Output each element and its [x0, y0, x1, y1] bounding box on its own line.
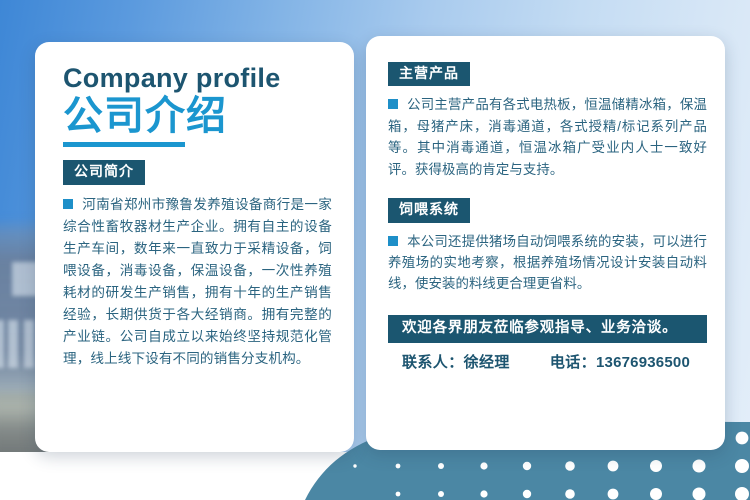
section-badge-main-products: 主营产品: [388, 62, 470, 86]
company-intro-paragraph: 河南省郑州市豫鲁发养殖设备商行是一家综合性畜牧器材生产企业。拥有自主的设备生产车…: [63, 194, 332, 370]
building-window: [8, 320, 18, 368]
main-products-text: 公司主营产品有各式电热板，恒温储精冰箱，保温箱，母猪产床，消毒通道，各式授精/标…: [388, 97, 707, 176]
title-underline: [63, 142, 185, 147]
page-title-chinese: 公司介绍: [63, 94, 332, 139]
contact-person-name: 徐经理: [464, 354, 510, 371]
products-services-content: 主营产品 公司主营产品有各式电热板，恒温储精冰箱，保温箱，母猪产床，消毒通道，各…: [388, 62, 707, 372]
main-products-block: 主营产品 公司主营产品有各式电热板，恒温储精冰箱，保温箱，母猪产床，消毒通道，各…: [388, 62, 707, 180]
feeding-system-text: 本公司还提供猪场自动饲喂系统的安装，可以进行养殖场的实地考察，根据养殖场情况设计…: [388, 234, 707, 292]
contact-row: 联系人：徐经理电话：13676936500: [388, 351, 707, 372]
feeding-system-block: 饲喂系统 本公司还提供猪场自动饲喂系统的安装，可以进行养殖场的实地考察，根据养殖…: [388, 198, 707, 295]
square-bullet-icon: [388, 236, 398, 246]
company-profile-content: Company profile 公司介绍 公司简介 河南省郑州市豫鲁发养殖设备商…: [63, 64, 332, 370]
section-badge-feeding-system: 饲喂系统: [388, 198, 470, 222]
page-title-english: Company profile: [63, 64, 332, 93]
products-services-card: 主营产品 公司主营产品有各式电热板，恒温储精冰箱，保温箱，母猪产床，消毒通道，各…: [366, 36, 725, 450]
main-products-paragraph: 公司主营产品有各式电热板，恒温储精冰箱，保温箱，母猪产床，消毒通道，各式授精/标…: [388, 94, 707, 180]
section-badge-company-intro: 公司简介: [63, 160, 145, 184]
contact-phone-label: 电话：: [550, 354, 596, 371]
company-intro-text: 河南省郑州市豫鲁发养殖设备商行是一家综合性畜牧器材生产企业。拥有自主的设备生产车…: [63, 197, 332, 366]
feeding-system-paragraph: 本公司还提供猪场自动饲喂系统的安装，可以进行养殖场的实地考察，根据养殖场情况设计…: [388, 231, 707, 295]
welcome-banner: 欢迎各界朋友莅临参观指导、业务洽谈。: [388, 315, 707, 343]
company-profile-card: Company profile 公司介绍 公司简介 河南省郑州市豫鲁发养殖设备商…: [35, 42, 354, 452]
square-bullet-icon: [388, 99, 398, 109]
building-window: [24, 320, 34, 368]
building-window: [0, 320, 4, 368]
contact-person-label: 联系人：: [402, 354, 464, 371]
poster-canvas: Company profile 公司介绍 公司简介 河南省郑州市豫鲁发养殖设备商…: [0, 0, 750, 500]
photo-bottom-mask: [0, 452, 750, 470]
square-bullet-icon: [63, 199, 73, 209]
contact-phone-number[interactable]: 13676936500: [596, 354, 690, 371]
